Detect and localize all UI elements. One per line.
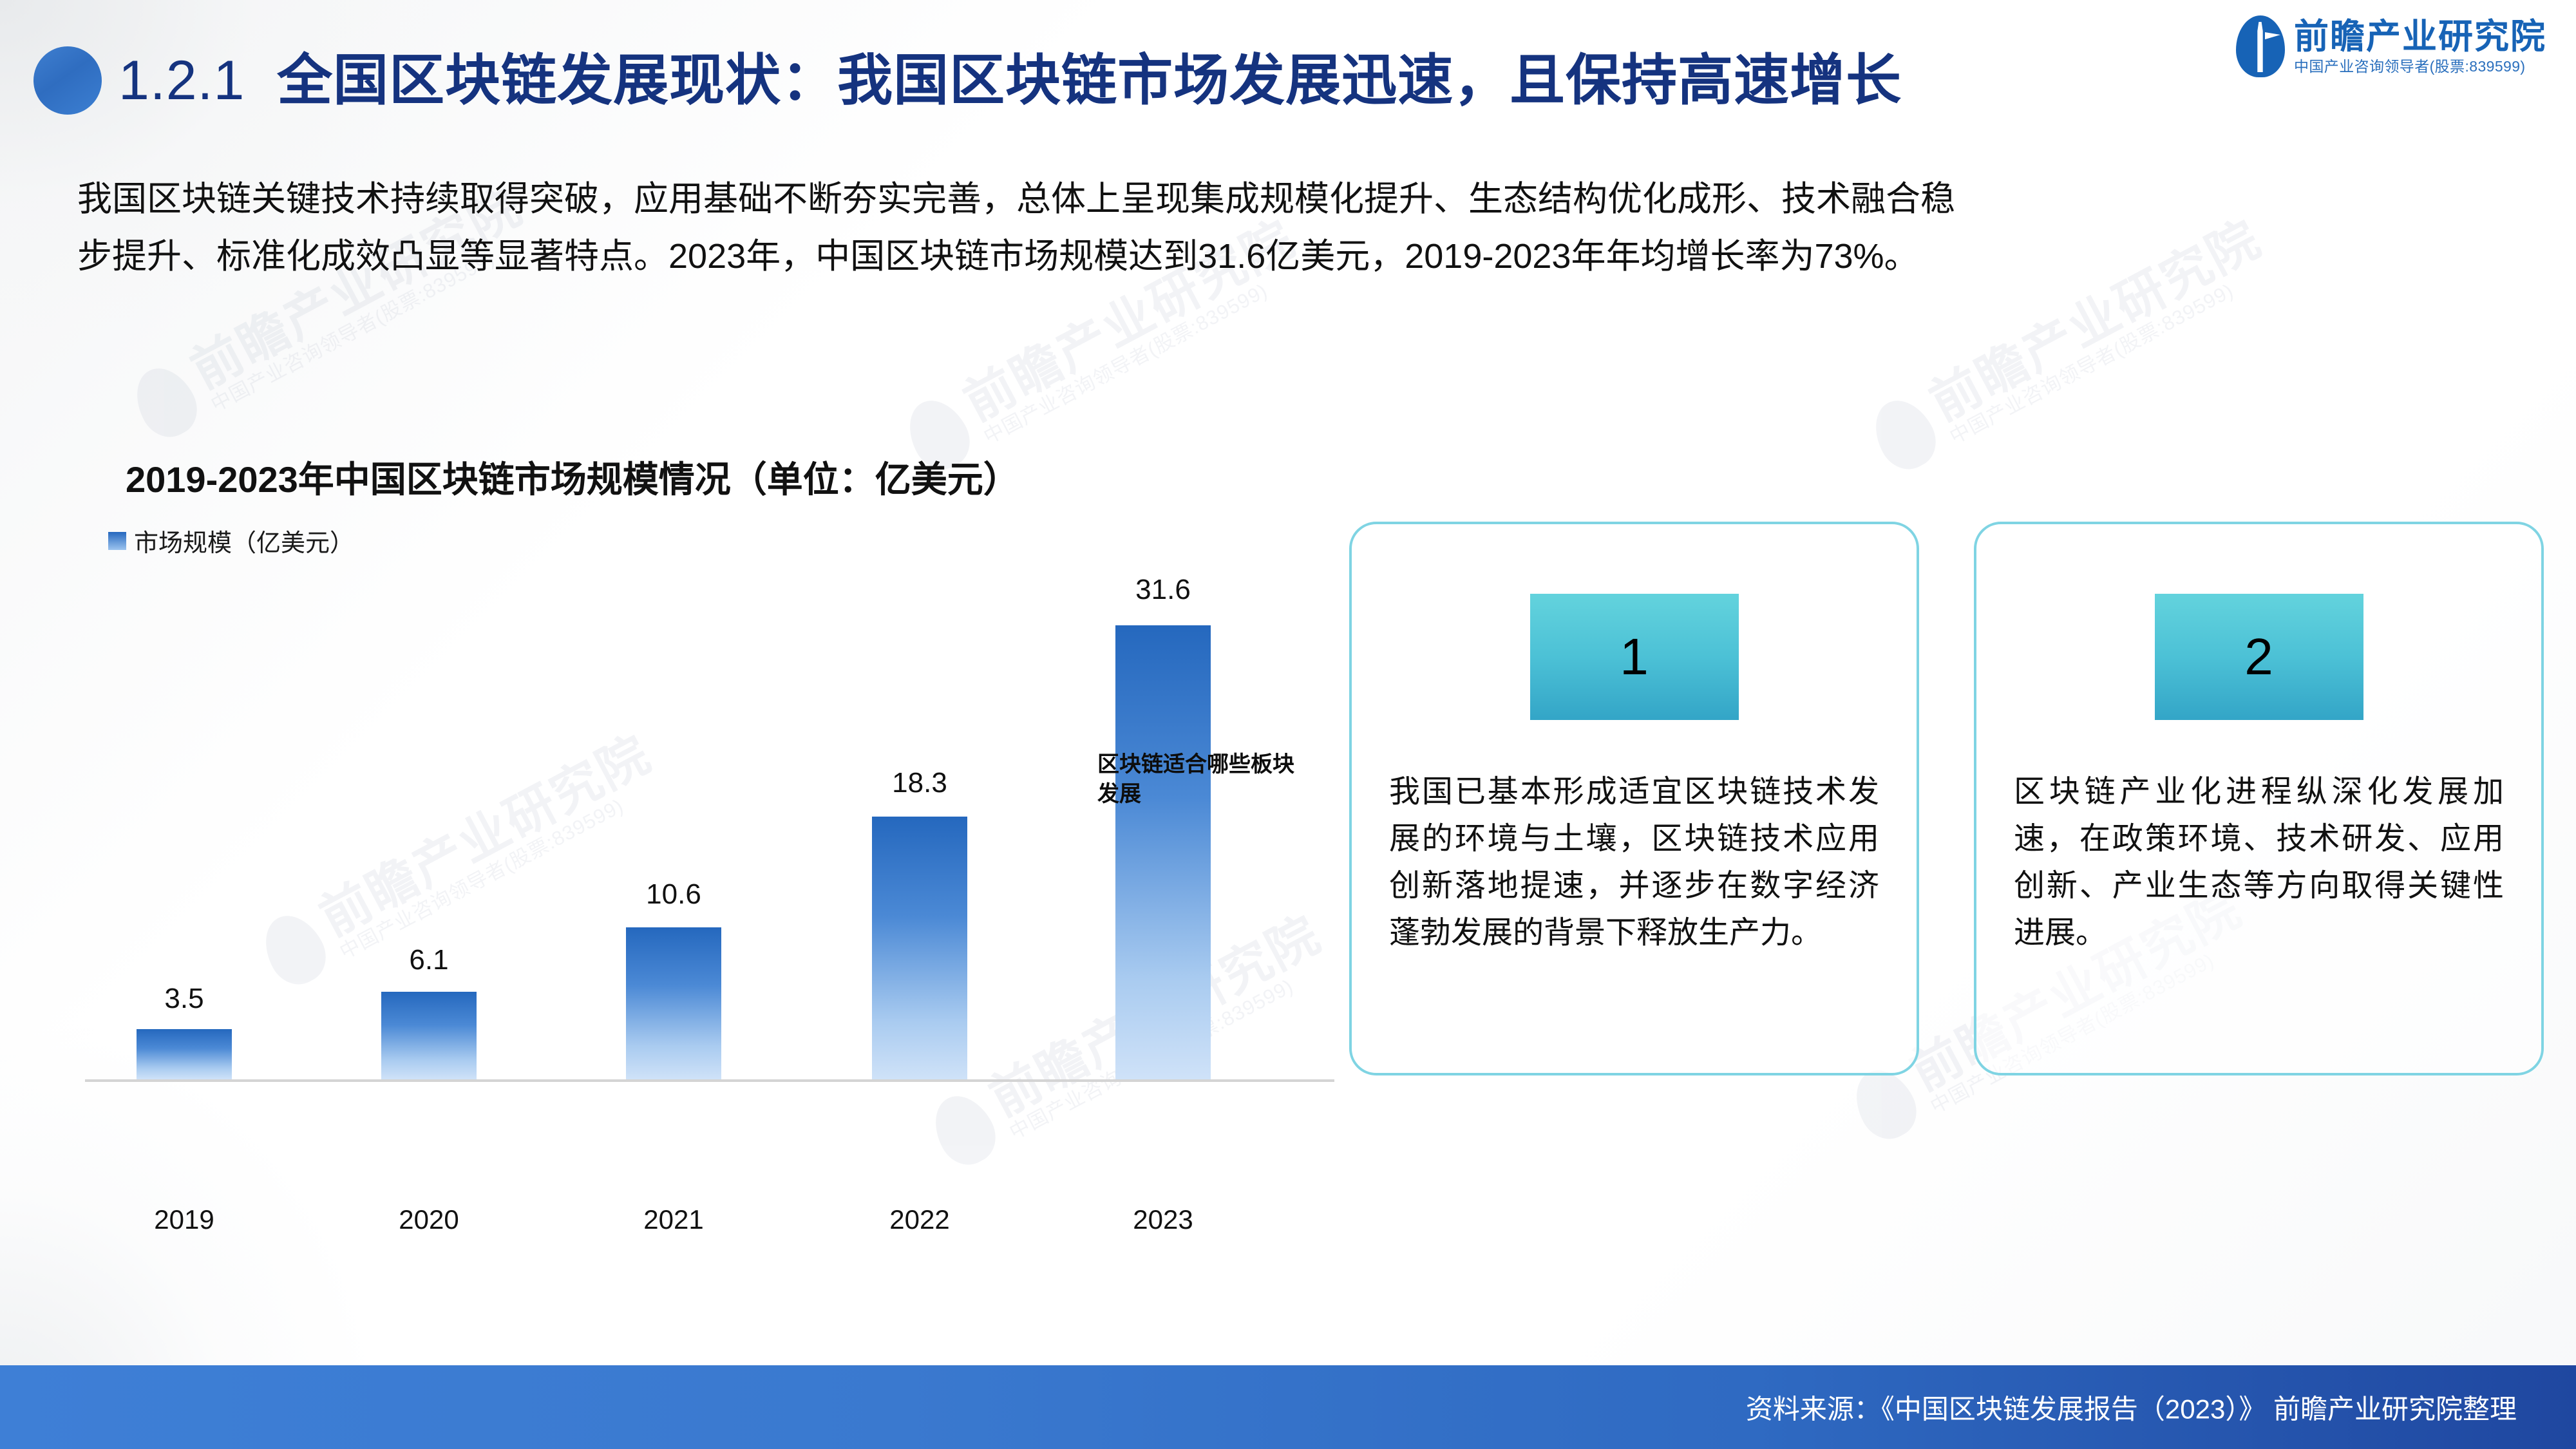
bar-value-2023: 31.6	[1135, 574, 1191, 606]
chart-plot-area: 3.5 6.1 10.6 18.3 31.6	[85, 567, 1334, 1082]
filled-circle-icon	[33, 46, 102, 115]
bar-value-2020: 6.1	[409, 944, 448, 976]
card-badge-1: 1	[1530, 594, 1739, 720]
chart-annotation: 区块链适合哪些板块发展	[1097, 750, 1310, 810]
qianzhan-logo-icon	[2236, 15, 2285, 77]
logo-name: 前瞻产业研究院	[2294, 19, 2546, 55]
legend-label: 市场规模（亿美元）	[134, 523, 354, 558]
card-badge-2: 2	[2155, 594, 2363, 720]
slide-root: 前瞻产业研究院 中国产业咨询领导者(股票:839599) 前瞻产业研究院 中国产…	[0, 0, 2576, 1449]
chart-x-axis-labels: 2019 2020 2021 2022 2023	[85, 1204, 1334, 1249]
info-card-1: 1 我国已基本形成适宜区块链技术发展的环境与土壤，区块链技术应用创新落地提速，并…	[1349, 522, 1919, 1075]
chart-legend: 市场规模（亿美元）	[108, 523, 354, 558]
footer-source-text: 资料来源：《中国区块链发展报告（2023）》 前瞻产业研究院整理	[1746, 1388, 2517, 1427]
slide-footer: 资料来源：《中国区块链发展报告（2023）》 前瞻产业研究院整理	[0, 1365, 2576, 1449]
watermark-logo-icon	[1863, 390, 1946, 478]
chart-bars: 3.5 6.1 10.6 18.3 31.6	[85, 567, 1334, 1082]
watermark-logo-icon	[923, 1085, 1005, 1173]
page-title-text: 1.2.1 全国区块链发展现状：我国区块链市场发展迅速，且保持高速增长	[118, 53, 1902, 108]
info-card-2: 2 区块链产业化进程纵深化发展加速，在政策环境、技术研发、应用创新、产业生态等方…	[1974, 522, 2544, 1075]
bar-group-2022: 18.3	[872, 817, 967, 1079]
x-label-2021: 2021	[643, 1204, 703, 1235]
slide-header: 1.2.1 全国区块链发展现状：我国区块链市场发展迅速，且保持高速增长	[0, 0, 2576, 148]
logo-tagline: 中国产业咨询领导者(股票:839599)	[2294, 59, 2546, 74]
x-label-2020: 2020	[399, 1204, 459, 1235]
bar-2020	[381, 992, 477, 1079]
bar-group-2023: 31.6	[1115, 625, 1211, 1079]
bar-value-2021: 10.6	[646, 878, 701, 911]
x-axis-line	[85, 1079, 1334, 1082]
brand-logo: 前瞻产业研究院 中国产业咨询领导者(股票:839599)	[2236, 15, 2546, 77]
intro-paragraph: 我国区块链关键技术持续取得突破，应用基础不断夯实完善，总体上呈现集成规模化提升、…	[77, 175, 2499, 289]
card-text-2: 区块链产业化进程纵深化发展加速，在政策环境、技术研发、应用创新、产业生态等方向取…	[2014, 769, 2504, 957]
intro-line-2: 步提升、标准化成效凸显等显著特点。2023年，中国区块链市场规模达到31.6亿美…	[77, 232, 2499, 281]
bar-2022	[872, 817, 967, 1079]
section-number: 1.2.1	[118, 50, 245, 111]
x-label-2022: 2022	[889, 1204, 949, 1235]
bar-group-2020: 6.1	[381, 992, 477, 1079]
bar-group-2021: 10.6	[626, 927, 721, 1079]
bar-value-2022: 18.3	[892, 767, 947, 799]
legend-swatch-icon	[108, 532, 126, 550]
x-label-2023: 2023	[1133, 1204, 1193, 1235]
page-title: 1.2.1 全国区块链发展现状：我国区块链市场发展迅速，且保持高速增长	[33, 46, 1902, 115]
info-cards: 1 我国已基本形成适宜区块链技术发展的环境与土壤，区块链技术应用创新落地提速，并…	[1349, 522, 2544, 1075]
bar-2023	[1115, 625, 1211, 1079]
section-title: 全国区块链发展现状：我国区块链市场发展迅速，且保持高速增长	[277, 50, 1902, 111]
bar-2021	[626, 927, 721, 1079]
intro-line-1: 我国区块链关键技术持续取得突破，应用基础不断夯实完善，总体上呈现集成规模化提升、…	[77, 175, 2499, 223]
card-text-1: 我国已基本形成适宜区块链技术发展的环境与土壤，区块链技术应用创新落地提速，并逐步…	[1389, 769, 1879, 957]
bar-2019	[137, 1029, 232, 1079]
watermark-logo-icon	[124, 357, 207, 446]
bar-group-2019: 3.5	[137, 1029, 232, 1079]
x-label-2019: 2019	[154, 1204, 214, 1235]
chart-title: 2019-2023年中国区块链市场规模情况（单位：亿美元）	[126, 451, 1019, 503]
bar-value-2019: 3.5	[164, 983, 204, 1015]
